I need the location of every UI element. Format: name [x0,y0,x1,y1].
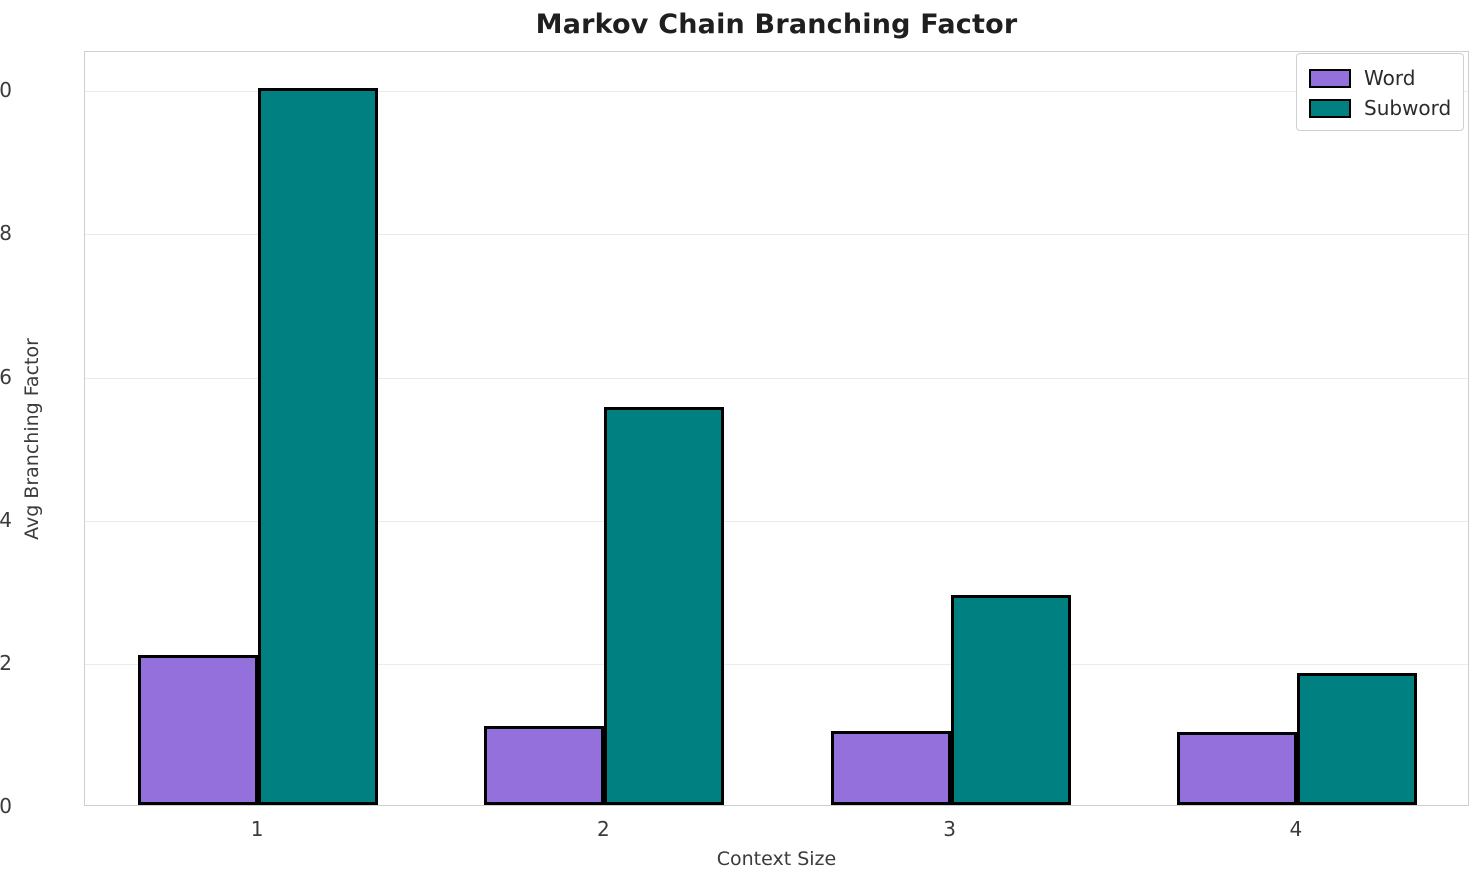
bar-word-context-2[interactable] [484,726,604,805]
chart-figure: Markov Chain Branching Factor 0246810 12… [0,0,1484,885]
bar-subword-context-4[interactable] [1297,673,1417,805]
chart-title: Markov Chain Branching Factor [84,8,1469,42]
bar-word-context-3[interactable] [831,731,951,805]
legend-item-subword[interactable]: Subword [1309,93,1451,123]
y-tick-10: 10 [0,80,12,100]
x-tick-1: 1 [212,818,302,840]
legend-swatch-word [1309,69,1351,88]
legend-item-word[interactable]: Word [1309,63,1451,93]
x-tick-3: 3 [905,818,995,840]
bar-word-context-1[interactable] [138,655,258,805]
y-tick-6: 6 [0,367,12,387]
y-axis-label: Avg Branching Factor [21,269,43,609]
y-tick-2: 2 [0,653,12,673]
x-tick-2: 2 [558,818,648,840]
bar-subword-context-2[interactable] [604,407,724,805]
y-tick-0: 0 [0,796,12,816]
legend-swatch-subword [1309,99,1351,118]
bar-word-context-4[interactable] [1177,732,1297,805]
legend-label-word: Word [1364,68,1415,88]
legend-label-subword: Subword [1364,98,1451,118]
y-tick-8: 8 [0,223,12,243]
x-tick-4: 4 [1251,818,1341,840]
y-tick-4: 4 [0,510,12,530]
plot-area [84,51,1469,806]
bar-subword-context-1[interactable] [258,88,378,805]
bar-subword-context-3[interactable] [951,595,1071,805]
x-axis-label: Context Size [84,848,1469,870]
legend: Word Subword [1296,53,1464,131]
